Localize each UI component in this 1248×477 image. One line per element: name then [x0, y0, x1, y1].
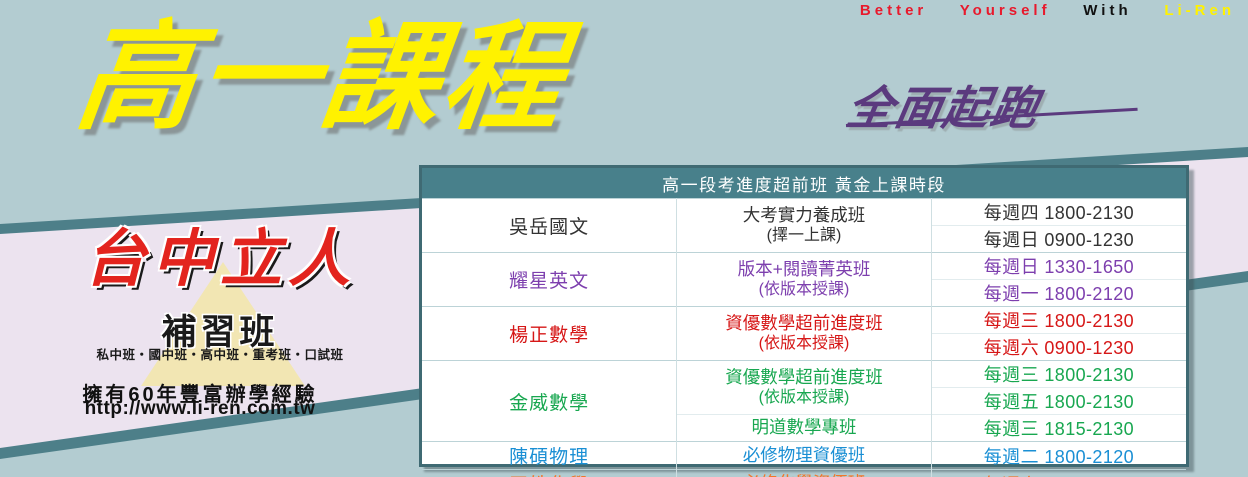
- page-title: 高一課程: [70, 14, 573, 139]
- cell-time: 每週三 1815-2130: [931, 415, 1186, 442]
- tagline-word-better: Better: [860, 2, 927, 19]
- course-name: 版本+閱讀菁英班: [677, 260, 931, 280]
- table-row: 金威數學資優數學超前進度班(依版本授課)每週三 1800-2130: [422, 361, 1186, 388]
- cell-time: 每週四 1800-2130: [931, 199, 1186, 226]
- cell-time: 每週日 1330-1650: [931, 253, 1186, 280]
- course-name: 必修物理資優班: [677, 446, 931, 466]
- cell-time: 每週六 0900-1230: [931, 334, 1186, 361]
- cell-time: 每週三 1800-2130: [931, 361, 1186, 388]
- brand-class-list: 私中班・國中班・高中班・重考班・口試班: [40, 344, 400, 363]
- poster-canvas: Better Yourself With Li-Ren 高一課程 全面起跑 台中…: [0, 0, 1248, 477]
- cell-course: 明道數學專班: [677, 415, 932, 442]
- cell-time: 每週六 1330-1650: [931, 470, 1186, 477]
- course-name: 明道數學專班: [677, 418, 931, 438]
- schedule-table-title: 高一段考進度超前班 黃金上課時段: [422, 168, 1186, 199]
- course-note: (依版本授課): [759, 389, 850, 406]
- course-name: 資優數學超前進度班: [677, 368, 931, 388]
- cell-time: 每週一 1800-2120: [931, 280, 1186, 307]
- page-subtitle: 全面起跑: [842, 72, 1046, 138]
- cell-teacher: 耀星英文: [422, 253, 677, 307]
- cell-course: 資優數學超前進度班(依版本授課): [677, 307, 932, 361]
- brand-website-url[interactable]: http://www.li-ren.com.tw: [40, 398, 360, 420]
- table-row: 王皓化學必修化學資優班每週六 1330-1650: [422, 470, 1186, 477]
- table-row: 楊正數學資優數學超前進度班(依版本授課)每週三 1800-2130: [422, 307, 1186, 334]
- cell-teacher: 楊正數學: [422, 307, 677, 361]
- table-row: 陳碩物理必修物理資優班每週二 1800-2120: [422, 442, 1186, 470]
- table-header-row: 高一段考進度超前班 黃金上課時段: [422, 168, 1186, 199]
- cell-teacher: 王皓化學: [422, 470, 677, 477]
- tagline-word-yourself: Yourself: [960, 2, 1051, 19]
- table-row: 耀星英文版本+閱讀菁英班(依版本授課)每週日 1330-1650: [422, 253, 1186, 280]
- cell-course: 必修化學資優班: [677, 470, 932, 477]
- cell-time: 每週五 1800-2130: [931, 388, 1186, 415]
- course-name: 資優數學超前進度班: [677, 314, 931, 334]
- schedule-table-body: 吳岳國文大考實力養成班(擇一上課)每週四 1800-2130每週日 0900-1…: [422, 199, 1186, 477]
- course-note: (依版本授課): [759, 281, 850, 298]
- course-note: (依版本授課): [759, 335, 850, 352]
- cell-teacher: 金威數學: [422, 361, 677, 442]
- cell-course: 資優數學超前進度班(依版本授課): [677, 361, 932, 415]
- cell-course: 必修物理資優班: [677, 442, 932, 470]
- tagline-word-liren: Li-Ren: [1164, 2, 1235, 19]
- table-row: 吳岳國文大考實力養成班(擇一上課)每週四 1800-2130: [422, 199, 1186, 226]
- schedule-table: 高一段考進度超前班 黃金上課時段 吳岳國文大考實力養成班(擇一上課)每週四 18…: [422, 168, 1186, 477]
- cell-teacher: 陳碩物理: [422, 442, 677, 470]
- cell-course: 版本+閱讀菁英班(依版本授課): [677, 253, 932, 307]
- cell-time: 每週三 1800-2130: [931, 307, 1186, 334]
- schedule-table-container: 高一段考進度超前班 黃金上課時段 吳岳國文大考實力養成班(擇一上課)每週四 18…: [419, 165, 1189, 467]
- cell-course: 大考實力養成班(擇一上課): [677, 199, 932, 253]
- tagline-word-with: With: [1083, 2, 1131, 19]
- schedule-table-head: 高一段考進度超前班 黃金上課時段: [422, 168, 1186, 199]
- cell-time: 每週日 0900-1230: [931, 226, 1186, 253]
- brand-name: 台中立人: [40, 228, 400, 290]
- course-name: 大考實力養成班: [677, 206, 931, 226]
- cell-teacher: 吳岳國文: [422, 199, 677, 253]
- course-note: (擇一上課): [767, 227, 842, 244]
- cell-time: 每週二 1800-2120: [931, 442, 1186, 470]
